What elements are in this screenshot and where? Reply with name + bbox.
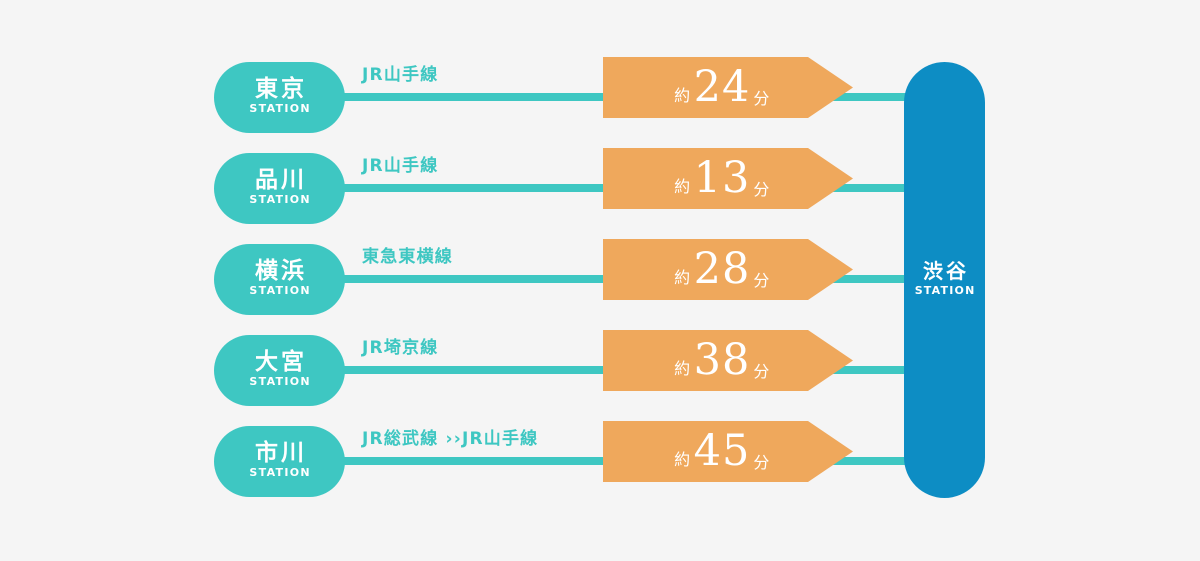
duration-approx-prefix: 約 bbox=[674, 355, 691, 391]
duration-minutes: 38 bbox=[691, 339, 754, 382]
route-row: 東京STATIONJR山手線約24分 bbox=[0, 52, 1200, 143]
route-row: 大宮STATIONJR埼京線約38分 bbox=[0, 325, 1200, 416]
route-line-name: JR山手線 bbox=[362, 151, 438, 176]
duration-unit: 分 bbox=[753, 85, 770, 118]
duration-approx-prefix: 約 bbox=[674, 173, 691, 209]
route-row: 横浜STATION東急東横線約28分 bbox=[0, 234, 1200, 325]
route-line-name: JR山手線 bbox=[362, 60, 438, 85]
origin-station-name: 横浜 bbox=[252, 259, 307, 283]
route-row: 市川STATIONJR総武線 ››JR山手線約45分 bbox=[0, 416, 1200, 507]
origin-station-2: 横浜STATION bbox=[214, 244, 345, 315]
duration-label: 約45分 bbox=[597, 421, 847, 482]
duration-label: 約38分 bbox=[597, 330, 847, 391]
duration-unit: 分 bbox=[753, 449, 770, 482]
route-line-name: JR総武線 ››JR山手線 bbox=[362, 424, 538, 449]
duration-unit: 分 bbox=[753, 267, 770, 300]
duration-label: 約24分 bbox=[597, 57, 847, 118]
duration-minutes: 28 bbox=[691, 248, 754, 291]
duration-unit: 分 bbox=[753, 176, 770, 209]
origin-station-0: 東京STATION bbox=[214, 62, 345, 133]
duration-minutes: 45 bbox=[691, 430, 754, 473]
origin-station-sublabel: STATION bbox=[248, 192, 311, 209]
duration-approx-prefix: 約 bbox=[674, 264, 691, 300]
route-line-name: 東急東横線 bbox=[362, 242, 453, 267]
origin-station-sublabel: STATION bbox=[248, 465, 311, 482]
origin-station-sublabel: STATION bbox=[248, 283, 311, 300]
access-route-diagram: 東京STATIONJR山手線約24分品川STATIONJR山手線約13分横浜ST… bbox=[0, 0, 1200, 561]
duration-label: 約28分 bbox=[597, 239, 847, 300]
origin-station-sublabel: STATION bbox=[248, 374, 311, 391]
origin-station-name: 品川 bbox=[252, 168, 307, 192]
destination-station-name: 渋谷 bbox=[920, 260, 969, 282]
destination-station-sublabel: STATION bbox=[914, 282, 976, 300]
duration-approx-prefix: 約 bbox=[674, 82, 691, 118]
route-line-name: JR埼京線 bbox=[362, 333, 438, 358]
duration-approx-prefix: 約 bbox=[674, 446, 691, 482]
origin-station-1: 品川STATION bbox=[214, 153, 345, 224]
origin-station-4: 市川STATION bbox=[214, 426, 345, 497]
destination-station-shibuya: 渋谷 STATION bbox=[904, 62, 985, 498]
duration-minutes: 24 bbox=[691, 66, 754, 109]
duration-unit: 分 bbox=[753, 358, 770, 391]
origin-station-name: 大宮 bbox=[252, 350, 307, 374]
route-row: 品川STATIONJR山手線約13分 bbox=[0, 143, 1200, 234]
duration-label: 約13分 bbox=[597, 148, 847, 209]
origin-station-name: 東京 bbox=[252, 77, 307, 101]
origin-station-3: 大宮STATION bbox=[214, 335, 345, 406]
duration-minutes: 13 bbox=[691, 157, 754, 200]
origin-station-sublabel: STATION bbox=[248, 101, 311, 118]
origin-station-name: 市川 bbox=[252, 441, 307, 465]
